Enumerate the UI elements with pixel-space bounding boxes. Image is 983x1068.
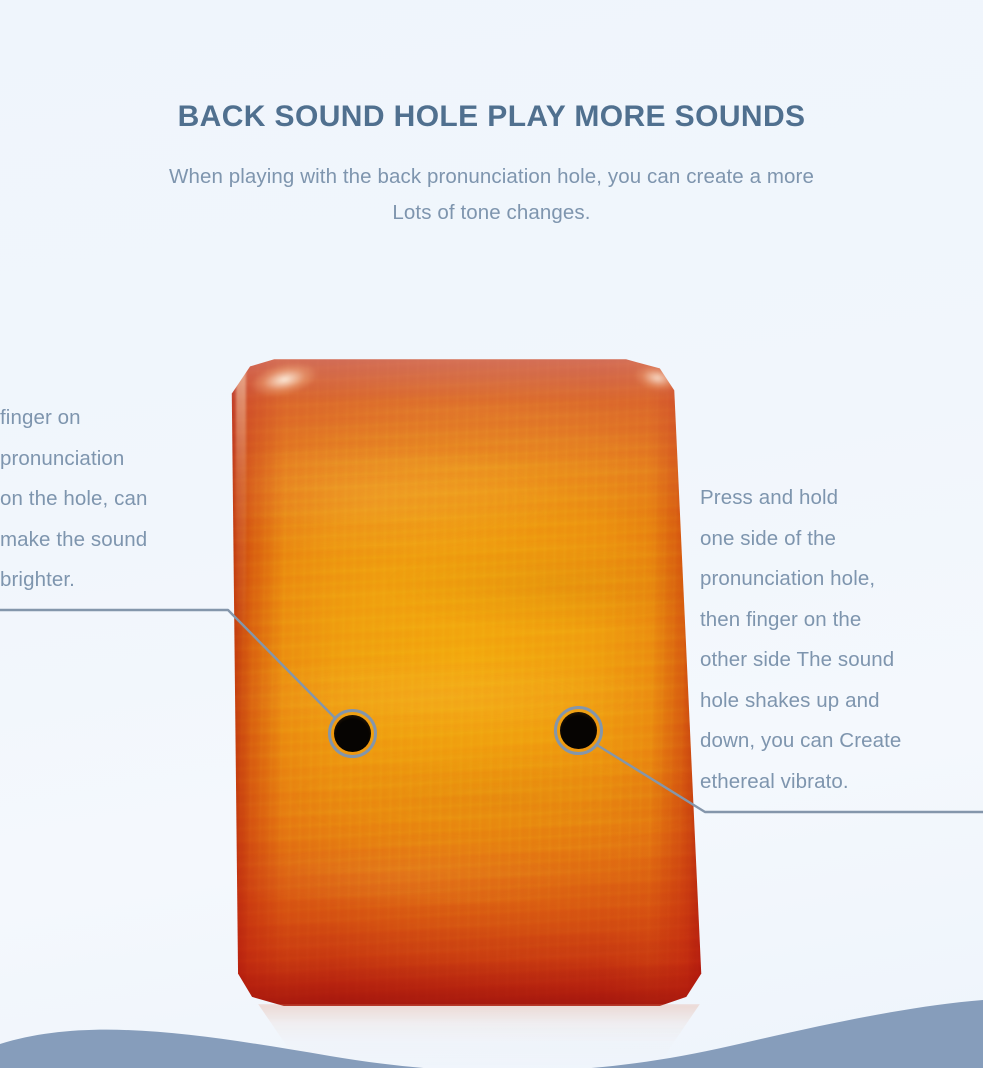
header: BACK SOUND HOLE PLAY MORE SOUNDS When pl… bbox=[0, 0, 983, 232]
callout-left-line-1: finger on bbox=[0, 398, 232, 439]
callout-right-line-3: pronunciation hole, bbox=[700, 559, 983, 600]
callout-left-line-4: make the sound bbox=[0, 520, 232, 561]
callout-right-line-2: one side of the bbox=[700, 519, 983, 560]
left-rim-light bbox=[236, 371, 247, 987]
page-subtitle: When playing with the back pronunciation… bbox=[0, 159, 983, 232]
callout-left-line-2: pronunciation bbox=[0, 439, 232, 480]
callout-right-line-8: ethereal vibrato. bbox=[700, 762, 983, 803]
callout-left-line-3: on the hole, can bbox=[0, 479, 232, 520]
callout-right-line-1: Press and hold bbox=[700, 478, 983, 519]
product-reflection bbox=[244, 1004, 714, 1066]
kalimba-back-panel bbox=[226, 358, 708, 1006]
sound-hole-right bbox=[560, 712, 597, 749]
page-title: BACK SOUND HOLE PLAY MORE SOUNDS bbox=[0, 100, 983, 133]
subtitle-line-2: Lots of tone changes. bbox=[0, 195, 983, 231]
callout-left-line-5: brighter. bbox=[0, 560, 232, 601]
callout-right-line-7: down, you can Create bbox=[700, 721, 983, 762]
callout-right-line-5: other side The sound bbox=[700, 640, 983, 681]
callout-right-line-4: then finger on the bbox=[700, 600, 983, 641]
bottom-edge-shadow bbox=[226, 961, 708, 1006]
callout-right-line-6: hole shakes up and bbox=[700, 681, 983, 722]
callout-right: Press and hold one side of the pronuncia… bbox=[700, 478, 983, 803]
sound-hole-left bbox=[334, 715, 371, 752]
callout-left: finger on pronunciation on the hole, can… bbox=[0, 398, 232, 601]
subtitle-line-1: When playing with the back pronunciation… bbox=[0, 159, 983, 195]
infographic-page: BACK SOUND HOLE PLAY MORE SOUNDS When pl… bbox=[0, 0, 983, 1068]
